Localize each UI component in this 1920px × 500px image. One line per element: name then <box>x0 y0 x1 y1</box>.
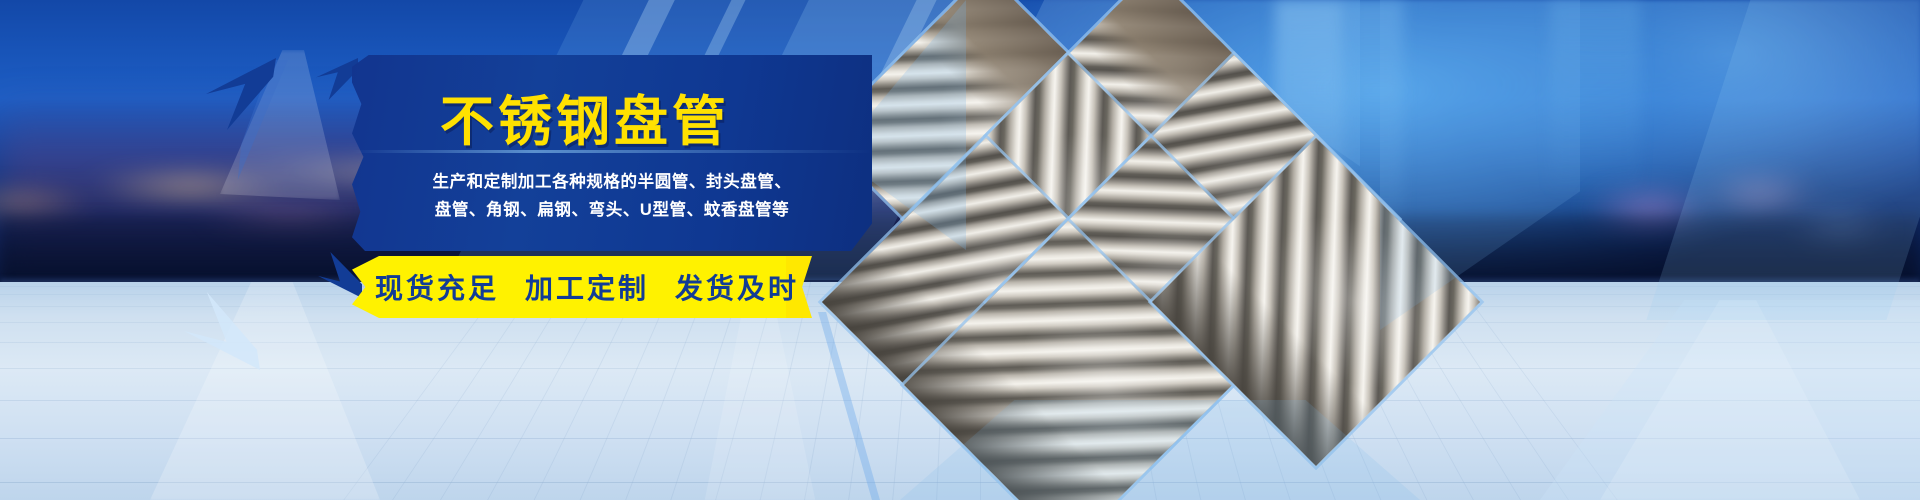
feature-item-stock: 现货充足 <box>375 267 499 307</box>
feature-item-fast-ship: 发货及时 <box>675 267 799 307</box>
feature-item-custom: 加工定制 <box>525 267 649 307</box>
promotional-banner: 不锈钢盘管 生产和定制加工各种规格的半圆管、封头盘管、 盘管、角钢、扁钢、弯头、… <box>0 0 1920 500</box>
page-title: 不锈钢盘管 <box>440 92 880 152</box>
subtitle-line-1: 生产和定制加工各种规格的半圆管、封头盘管、 <box>372 168 852 196</box>
feature-ribbon-text: 现货充足 加工定制 发货及时 <box>372 256 802 318</box>
subtitle-block: 生产和定制加工各种规格的半圆管、封头盘管、 盘管、角钢、扁钢、弯头、U型管、蚊香… <box>372 168 852 224</box>
subtitle-line-2: 盘管、角钢、扁钢、弯头、U型管、蚊香盘管等 <box>372 196 852 224</box>
